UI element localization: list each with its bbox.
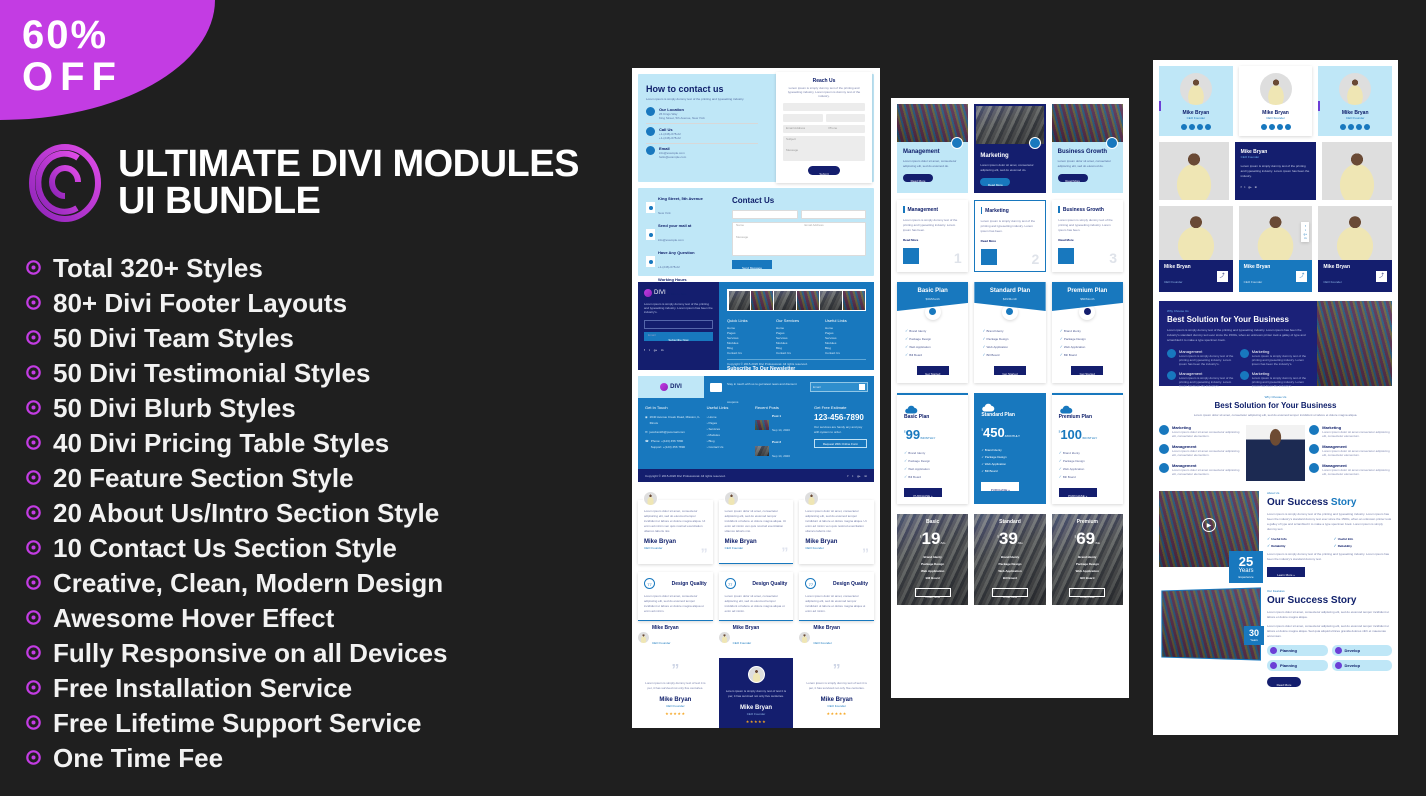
mail-icon [646,146,655,155]
footer-copyright: Copyright © 2015-2020 Divi Professional.… [727,362,866,366]
share-icon[interactable]: ⤴ [1217,271,1228,282]
feature-label: One Time Fee [53,744,223,772]
feature-text: Lorem ipsum is simply dummy text of the … [1179,354,1235,366]
footer-column-title: Get Free Estimate [814,405,867,410]
footer-column-title: Recent Posts [755,405,808,410]
feature-label: 20 About Us/Intro Section Style [53,499,439,527]
testimonial-role: CEO Founder [644,704,707,708]
team-row-3: Mike BryanCEO Founder ⤴ f t g+ in Mike B… [1159,206,1392,292]
avatar [748,666,765,683]
feature-label: Awesome Hover Effect [53,604,334,632]
contact-info-item: King Street, 5th AvenueNew York [646,196,724,219]
blurb-card: Business Growth Lorem ipsum dolor sit am… [1052,104,1123,193]
linkedin-icon[interactable] [1205,124,1211,130]
check-item: ✓ Useful Info [1267,537,1324,541]
contact-info-item: Call Us +1-(246)-678-22 +1-(246)-678-22 [646,127,758,140]
send-icon[interactable] [859,384,865,390]
blurb-title: Marketing [980,153,1039,160]
plan-amount: 450 [983,425,1005,440]
footer-column: Quick Links HomePages ServicesModules Bl… [727,318,768,356]
email-input[interactable]: Email [644,320,713,329]
reach-us-form-card: Reach Us Lorem ipsum is simply dummy tex… [776,72,872,183]
feature-text: Lorem ipsum dolor sit amet consectetur a… [1172,430,1242,438]
contact-item-line2: hello@example.com [659,155,758,159]
businessman-photo [1246,425,1306,481]
plan-amount: 99 [906,427,920,442]
tag-chip: Develop [1332,645,1393,656]
tag-chip: Planning [1267,645,1328,656]
years-label: Years [1245,638,1263,642]
bullet-target-icon [26,645,41,660]
facebook-icon[interactable]: f [848,474,849,478]
bullet-target-icon [26,260,41,275]
quote-icon: ” [781,547,788,557]
contact-item-line2: King Street, 5th Avenue, New York [659,116,758,120]
list-item: One Time Fee [26,740,626,775]
learn-more-button[interactable]: Learn More » [1267,567,1305,577]
twitter-icon[interactable]: t [1245,185,1246,189]
blurb-number: 3 [1109,252,1117,264]
experience-label-1: Years [1231,568,1261,575]
blurb-text: Lorem ipsum dolor sit amet, consectetur … [903,159,962,169]
location-pin-icon [646,202,655,213]
testimonial-role: CEO Founder [805,704,868,708]
footer-copyright: Copyright © 2015-2020 Divi Professional.… [645,474,726,478]
avatar [1260,73,1292,105]
dot-icon [1270,662,1277,669]
reach-us-sub: Lorem ipsum is simply dummy text of the … [783,86,865,98]
brand-header: ULTIMATE DIVI MODULES UI BUNDLE [26,142,626,224]
plan-feature: Brand Identy [987,329,1004,333]
feature-label: 40 Divi Pricing Table Styles [53,429,389,457]
team-role: CEO Founder [1322,116,1388,120]
team-photo [1322,142,1392,200]
footer-links[interactable]: › Home › Pages › Services › Modules › Bl… [707,414,749,450]
contact-item-title: Send your mail at [658,223,691,228]
list-item: Free Lifetime Support Service [26,705,626,740]
testimonial-title: Design Quality [672,581,707,587]
discount-percent: 60% [22,14,123,56]
rating-badge: 77 [644,578,655,589]
footer-column: Our Services HomePages ServicesModules B… [776,318,817,356]
feature-text: Lorem ipsum is simply dummy text of the … [1252,354,1308,366]
bullet-target-icon [26,505,41,520]
blurb-row-1: Management Lorem ipsum dolor sit amet, c… [897,104,1123,193]
google-plus-icon[interactable]: g+ [857,474,860,478]
linkedin-icon[interactable] [1364,124,1370,130]
team-role: CEO Founder [1323,280,1342,284]
testimonial-title: Design Quality [833,581,868,587]
testimonial-row-1: Lorem ipsum dolor sit amet, consectetur … [638,491,874,564]
message-textarea[interactable]: Message [732,222,866,256]
plan-feature: Bill Board [1064,353,1077,357]
contact-us-heading: Contact Us [732,196,866,205]
feature-text: Lorem ipsum dolor sit amet consectetur a… [1322,430,1392,438]
years-number: 30 [1245,629,1263,638]
get-started-button[interactable]: Get Started [994,366,1026,375]
team-card: Mike BryanCEO Founder ⤴ [1318,206,1392,292]
feature-label: 50 Divi Blurb Styles [53,394,296,422]
submit-button[interactable]: Submit [808,166,840,175]
plan-price: $30/Month [901,297,964,301]
plan-period: /MONTHLY [1005,434,1020,438]
section-sub: Lorem ipsum dolor sit amet, consectetur … [1159,413,1392,418]
building-icon [903,248,919,264]
recent-post[interactable]: Post 1Sep 14, 2020 [755,414,808,436]
testimonial-name: Mike Bryan [805,697,868,704]
bullet-target-icon [26,400,41,415]
social-strip[interactable]: f t g+ in [1301,222,1309,242]
rating-stars: ★★★★★ [805,711,868,716]
blurb-card: Business Growth Lorem ipsum is simply du… [1052,200,1123,272]
contact-section-1: How to contact us Lorem ipsum is simply … [638,74,874,182]
divi-spiral-logo-icon [26,142,104,224]
feature-label: 80+ Divi Footer Layouts [53,289,347,317]
section-heading-part2: Story [1331,497,1357,508]
linkedin-icon[interactable]: in [865,474,867,478]
pricing-card: Premium $69/Mo Brand Identy Package Desi… [1052,514,1123,605]
team-role: CEO Founder [1241,155,1311,159]
read-more-link[interactable]: Read More [1058,238,1117,242]
cog-icon [1167,349,1176,358]
pricing-row-2: Basic Plan $99/MONTHLY ✓ Brand Identy ✓ … [897,393,1123,504]
divi-logo: DIVI [638,376,704,398]
mockup-team-features-success: Mike Bryan CEO Founder Mike Bryan CEO Fo… [1153,60,1398,735]
plan-feature: Web Application [985,462,1006,466]
pricing-card: Basic $19/Mo Brand Identy Package Design… [897,514,968,605]
linkedin-icon[interactable] [1285,124,1291,130]
success-story-2: 30 Years Our Features Our Success Story … [1159,589,1392,687]
testimonial-role: CEO Founder [733,641,752,645]
list-item: 10 Contact Us Section Style [26,530,626,565]
testimonial-title: Design Quality [752,581,787,587]
testimonial-text: Lorem ipsum dolor sit amet, consectetur … [644,509,707,534]
feature-section-dark: Why Choose Us Best Solution for Your Bus… [1159,301,1392,386]
order-now-button[interactable]: Order Now [915,588,951,597]
facebook-icon[interactable]: f [1241,185,1242,189]
testimonial-text: Lorem ipsum dolor sit amet, consectetur … [805,594,868,614]
facebook-icon[interactable] [1261,124,1267,130]
reach-us-title: Reach Us [783,78,865,84]
bullet-target-icon [26,575,41,590]
promo-left-column: ULTIMATE DIVI MODULES UI BUNDLE Total 32… [26,142,626,775]
name-field[interactable]: Name [732,210,798,219]
email-field[interactable]: Email Address [783,114,823,122]
share-icon[interactable]: ⤴ [1296,271,1307,282]
list-item: 50 Divi Team Styles [26,320,626,355]
footer-column: Recent Posts Post 1Sep 14, 2020 Post 2Se… [755,405,808,462]
testimonial-card: 77 Design Quality Lorem ipsum dolor sit … [719,572,794,649]
footer-about-text: Lorem ipsum is simply dummy text of the … [644,302,713,314]
testimonial-card: Lorem ipsum dolor sit amet, consectetur … [638,491,713,564]
twitter-icon[interactable] [1348,124,1354,130]
google-plus-icon[interactable]: g+ [1248,185,1251,189]
testimonial-name: Mike Bryan [733,625,760,631]
testimonial-name: Mike Bryan [813,625,840,631]
get-started-button[interactable]: Get Started [917,366,949,375]
share-icon[interactable]: ⤴ [1376,271,1387,282]
bar-chart-icon [1058,248,1074,264]
bullet-target-icon [26,750,41,765]
request-form-button[interactable]: Request With Online Form [814,439,867,448]
location-pin-icon: ◉ [645,414,648,426]
facebook-icon[interactable] [1181,124,1187,130]
twitter-icon[interactable] [1189,124,1195,130]
google-plus-icon[interactable]: g+ [654,348,657,352]
google-plus-icon[interactable] [1277,124,1283,130]
twitter-icon[interactable]: t [852,474,853,478]
plan-feature: Bill Board [908,475,921,479]
section-heading: Our Success Story [1267,595,1392,606]
chart-icon [1029,137,1041,149]
avatar [1339,73,1371,105]
rating-stars: ★★★★★ [644,711,707,716]
section-eyebrow: Our Features [1267,589,1392,593]
testimonial-name: Mike Bryan [652,625,679,631]
plan-feature: Bill Board [980,575,1039,582]
feature-label: 20 Feature Section Style [53,464,354,492]
plan-price: $60/Month [1056,297,1119,301]
avatar [719,632,730,643]
bullet-target-icon [26,295,41,310]
footer-column: Get In Touch ◉2640 Avenue Creek Road, Mi… [645,405,701,462]
feature-section-light: Why Choose Us Best Solution for Your Bus… [1159,395,1392,481]
plan-feature: Brand Identy [908,451,925,455]
footer-column: Get Free Estimate 123-456-7890 Our servi… [814,405,867,462]
read-more-button[interactable]: Read More [1267,677,1301,687]
quote-icon: ” [644,666,707,676]
section-heading: Best Solution for Your Business [1167,315,1309,324]
feature-text: Lorem ipsum is simply dummy text of the … [1179,376,1235,388]
section-text-2: Lorem ipsum dolor sit amet, consectetur … [1267,624,1392,639]
order-now-button[interactable]: Order Now [992,588,1028,597]
testimonial-name: Mike Bryan [644,539,707,546]
feature-list: Total 320+ Styles 80+ Divi Footer Layout… [26,250,626,775]
team-name: Mike Bryan [1164,264,1191,270]
list-item: 40 Divi Pricing Table Styles [26,425,626,460]
tag-chip: Develop [1332,660,1393,671]
feature-label: Fully Responsive on all Devices [53,639,447,667]
linkedin-icon[interactable]: in [1301,236,1309,240]
success-story-1: ▶ 25 Years Experience About Us Our Succe… [1159,491,1392,577]
team-bio: Lorem ipsum is simply dummy text of the … [1241,164,1311,179]
blurb-card: Management Lorem ipsum is simply dummy t… [897,200,968,272]
plan-period: /Mo [1018,541,1023,545]
blurb-title: Business Growth [1063,207,1104,213]
dot-icon [1335,662,1342,669]
section-eyebrow: Why Choose Us [1167,309,1309,313]
blurb-title: Management [903,149,962,156]
purchase-button[interactable]: PURCHASE » [981,482,1019,491]
list-item: 50 Divi Testimonial Styles [26,355,626,390]
footer-links[interactable]: HomePages ServicesModules BlogContact Us [727,326,768,356]
contact-item-sub: info@example.com [658,238,684,242]
divi-mark-icon [660,383,668,391]
footer-column-title: Useful Links [825,318,866,323]
send-message-button[interactable]: Send Message [732,260,772,269]
linkedin-icon[interactable]: in [1255,185,1257,189]
plan-period: /MONTHLY [920,436,935,440]
list-item: 80+ Divi Footer Layouts [26,285,626,320]
plan-feature: Web Application [1064,345,1085,349]
order-now-button[interactable]: Order Now [1069,588,1105,597]
name-field[interactable]: Name [783,103,865,111]
phone-field[interactable]: Phone [826,114,866,122]
rocket-icon [1309,463,1319,473]
plan-title: Basic [903,519,962,525]
list-item: 50 Divi Blurb Styles [26,390,626,425]
plan-feature: Brand Identy [1058,554,1117,561]
quote-icon: ” [701,548,708,558]
feature-label: Creative, Clean, Modern Design [53,569,443,597]
newsletter-title: Subscribe To Our Newsletter [727,366,805,372]
avatar [1180,73,1212,105]
feature-item: ManagementLorem ipsum dolor sit amet con… [1159,444,1242,457]
feature-item: MarketingLorem ipsum dolor sit amet cons… [1309,425,1392,438]
check-item: ✓ Reliability [1334,544,1391,548]
team-card: Mike Bryan CEO Founder [1239,66,1313,136]
blurb-number: 2 [1032,253,1040,265]
tag-chip: Planning [1267,660,1328,671]
quote-icon: ” [805,666,868,676]
footer-column: Useful Links HomePages ServicesModules B… [825,318,866,356]
blurb-text: Lorem ipsum is simply dummy text of the … [903,218,962,233]
avatar [799,632,810,643]
contact-info-item: Email info@example.com hello@example.com [646,146,758,159]
contact-heading: How to contact us [646,84,758,94]
plan-feature: Web Application [903,568,962,575]
footer-column-title: Useful Links [707,405,749,410]
contact-info-item: Have Any Question+1-(246)-678-22 [646,250,724,273]
purchase-button[interactable]: PURCHASE » [1059,488,1097,497]
experience-number: 25 [1231,555,1261,568]
mockup-contact-footer-testimonials: How to contact us Lorem ipsum is simply … [632,68,880,728]
twitter-icon[interactable] [1269,124,1275,130]
dot-icon [1270,647,1277,654]
page-title: ULTIMATE DIVI MODULES UI BUNDLE [118,146,579,220]
plan-feature: Package Design [1058,561,1117,568]
plan-amount: 69 [1076,529,1095,548]
plan-feature: Brand Identy [903,554,962,561]
bulb-icon [1309,425,1319,435]
target-icon [1309,444,1319,454]
team-photo [1159,142,1229,200]
newsletter-input[interactable]: Email [810,382,868,392]
linkedin-icon[interactable]: in [661,348,663,352]
check-item: ✓ Useful Info [1334,537,1391,541]
footer-links[interactable]: HomePages ServicesModules BlogContact Us [825,326,866,356]
testimonial-role: CEO Founder [725,712,788,716]
section-text-2: Lorem ipsum is simply dummy text of the … [1267,552,1392,562]
twitter-icon[interactable]: t [649,348,650,352]
read-more-link[interactable]: Read More [903,238,962,242]
facebook-icon[interactable]: f [644,348,645,352]
quote-icon: ” [862,548,869,558]
plan-feature: Web Application [1058,568,1117,575]
purchase-button[interactable]: PURCHASE » [904,488,942,497]
plan-feature: Brand Identy [1063,451,1080,455]
bullet-target-icon [26,540,41,555]
divi-mark-icon [644,289,652,297]
list-item: 20 About Us/Intro Section Style [26,495,626,530]
growth-icon [1106,137,1118,149]
experience-label-2: Experience [1231,575,1261,579]
cloud-icon [981,400,991,408]
team-role: CEO Founder [1244,280,1263,284]
discount-badge-text: 60% OFF [22,14,123,98]
contact-item-sub: +1-(246)-678-22 [658,265,680,269]
read-more-button[interactable]: Read More [1058,174,1088,182]
list-item: Total 320+ Styles [26,250,626,285]
blurb-number: 1 [954,252,962,264]
email-field[interactable]: Email Address [801,210,867,219]
read-more-link[interactable]: Read More [981,239,1040,243]
pricing-card: Premium Plan $100/MONTHLY ✓ Brand Identy… [1052,393,1123,504]
mockup-blurbs-pricing: Management Lorem ipsum dolor sit amet, c… [891,98,1129,698]
pricing-card: Premium Plan $60/Month ✓ Brand Identy ✓ … [1052,282,1123,383]
pricing-card: Standard Plan $450/MONTHLY ✓ Brand Ident… [974,393,1045,504]
plan-period: /MONTHLY [1082,436,1097,440]
bullet-target-icon [26,715,41,730]
footer-links[interactable]: HomePages ServicesModules BlogContact Us [776,326,817,356]
facebook-icon[interactable] [1340,124,1346,130]
play-icon[interactable]: ▶ [1202,518,1216,532]
testimonial-text: Lorem ipsum dolor sit amet, consectetur … [644,594,707,614]
team-name: Mike Bryan [1323,264,1350,270]
avatar [724,491,739,506]
pricing-card: Basic Plan $99/MONTHLY ✓ Brand Identy ✓ … [897,393,968,504]
plan-title: Basic Plan [904,414,961,420]
recent-post[interactable]: Post 2Sep 14, 2020 [755,440,808,462]
subject-field[interactable]: Subject [783,125,865,133]
testimonial-card: Lorem ipsum is simply dummy text of text… [719,658,794,728]
blurb-text: Lorem ipsum dolor sit amet, consectetur … [1058,159,1117,169]
team-row-2: Mike Bryan CEO Founder Lorem ipsum is si… [1159,142,1392,200]
blurb-card: Marketing Lorem ipsum is simply dummy te… [974,200,1047,272]
message-textarea[interactable]: Message [783,136,865,161]
testimonial-card: Lorem ipsum dolor sit amet, consectetur … [799,491,874,564]
feature-item: MarketingLorem ipsum is simply dummy tex… [1240,349,1308,366]
testimonial-text: Lorem ipsum dolor sit amet, consectetur … [725,594,788,614]
pricing-card: Standard $39/Mo Brand Identy Package Des… [974,514,1045,605]
feature-item: ManagementLorem ipsum dolor sit amet con… [1159,463,1242,476]
team-role: CEO Founder [1163,116,1229,120]
contact-info-item: Our Location 26 Kings Way King Street, 5… [646,107,758,120]
feature-label: 50 Divi Testimonial Styles [53,359,370,387]
pricing-card: Standard Plan $49/Month ✓ Brand Identy ✓… [974,282,1045,383]
read-more-button[interactable]: Read More [980,178,1010,186]
list-item: Creative, Clean, Modern Design [26,565,626,600]
location-pin-icon [646,107,655,116]
list-item: Free Installation Service [26,670,626,705]
cloud-icon [904,402,914,410]
contact-item-sub: Mon - Fri 9am to 6pm [658,292,687,296]
footer-column: Useful Links › Home › Pages › Services ›… [707,405,749,462]
get-started-button[interactable]: Get Started [1071,366,1103,375]
google-plus-icon[interactable] [1356,124,1362,130]
read-more-button[interactable]: Read More [903,174,933,182]
contact-item-line2: +1-(246)-678-22 [659,136,758,140]
blurb-text: Lorem ipsum is simply dummy text of the … [981,219,1040,234]
testimonial-name: Mike Bryan [805,539,868,546]
feature-item: ManagementLorem ipsum is simply dummy te… [1167,371,1235,388]
testimonial-name: Mike Bryan [725,705,788,712]
google-plus-icon[interactable] [1197,124,1203,130]
feature-label: Free Installation Service [53,674,352,702]
brand-title-line2: UI BUNDLE [118,183,579,220]
pricing-row-3: Basic $19/Mo Brand Identy Package Design… [897,514,1123,605]
blurb-title: Business Growth [1058,149,1117,156]
